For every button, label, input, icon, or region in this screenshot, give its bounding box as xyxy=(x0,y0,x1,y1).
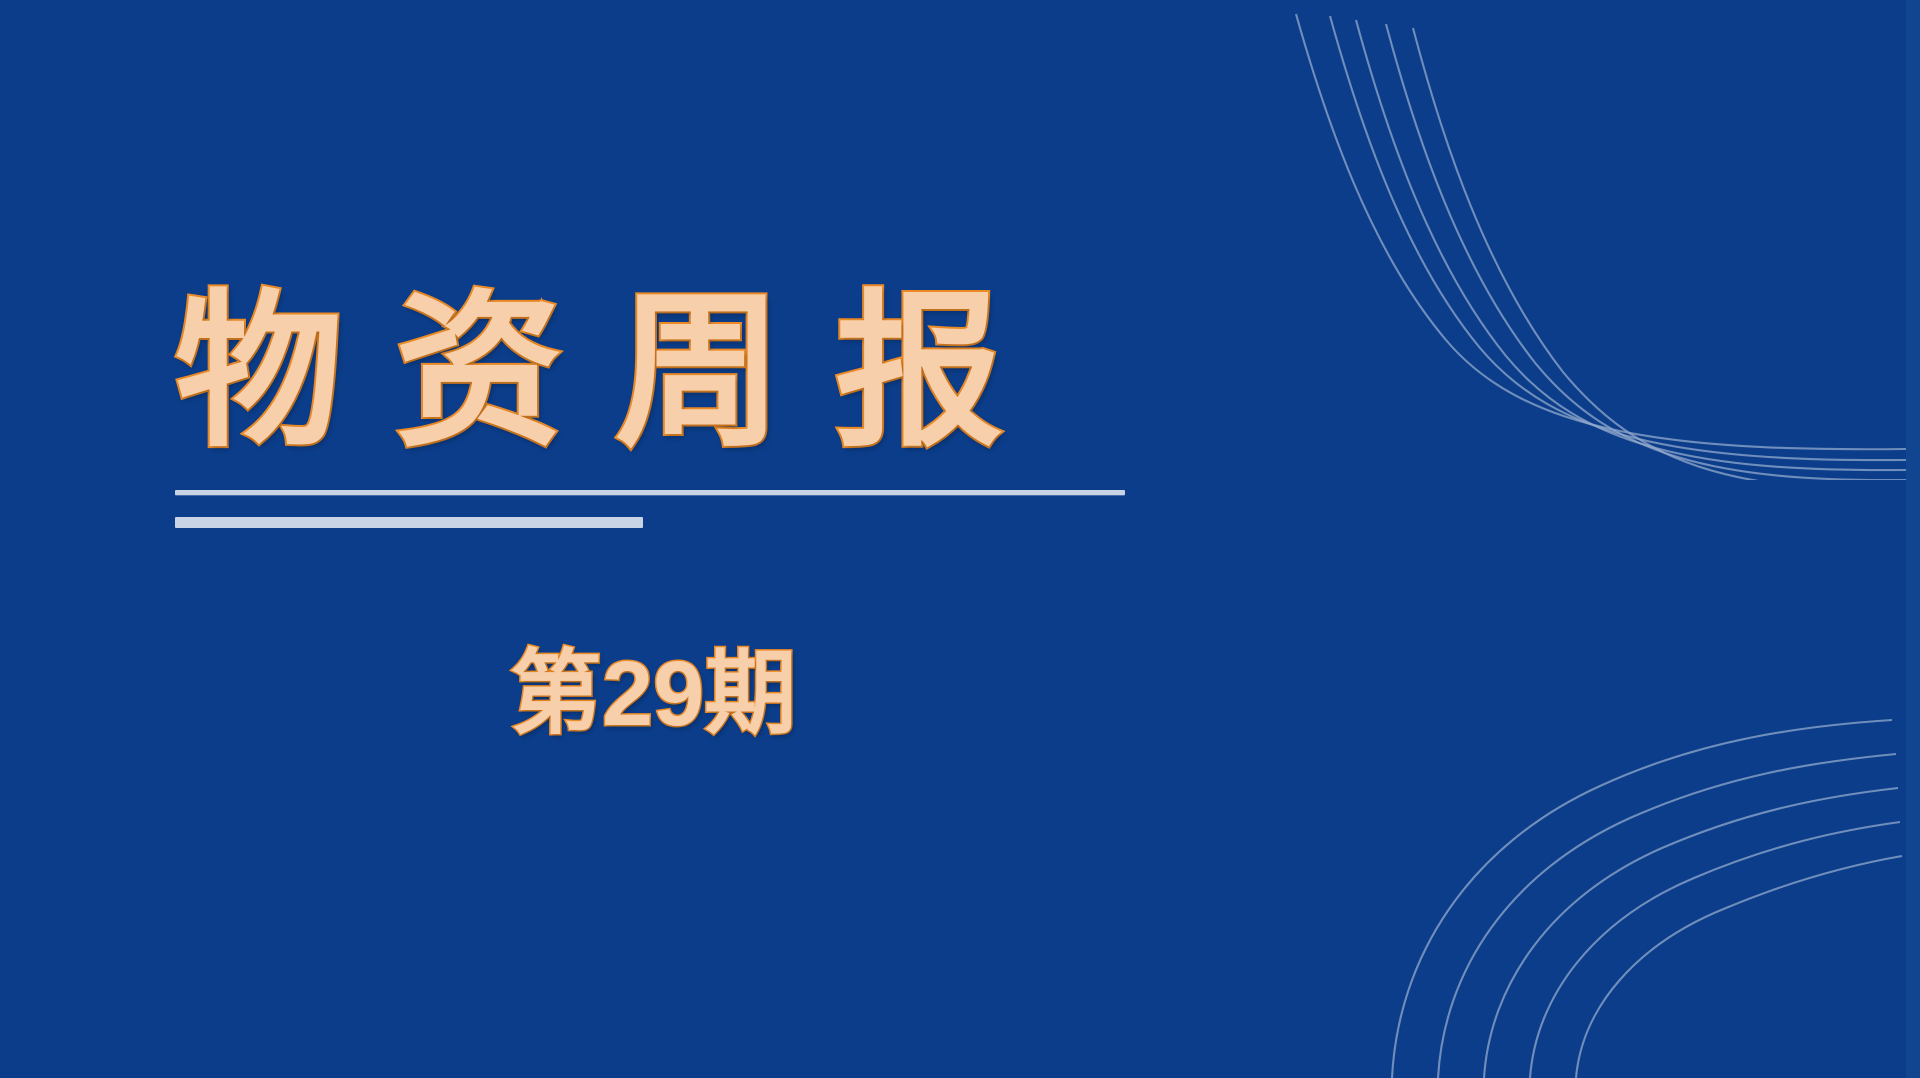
wave-line xyxy=(1296,14,1906,449)
arc-lines-bottom-right-icon xyxy=(1280,658,1920,1078)
slide-right-edge-strip xyxy=(1906,0,1920,1078)
wave-line xyxy=(1413,28,1906,480)
title-underline-long xyxy=(175,490,1125,495)
arc-line xyxy=(1576,856,1902,1078)
wave-line xyxy=(1356,20,1906,470)
title-rules xyxy=(175,490,1175,528)
issue-subtitle: 第29期 xyxy=(510,648,796,740)
wave-lines-top-right-icon xyxy=(1260,0,1920,480)
arc-line xyxy=(1392,720,1892,1078)
arc-line xyxy=(1530,822,1900,1078)
presentation-cover-slide: 物资周报 第29期 xyxy=(0,0,1920,1078)
arc-line xyxy=(1484,788,1898,1078)
page-title: 物资周报 xyxy=(175,288,1175,456)
wave-line xyxy=(1386,24,1906,480)
title-block: 物资周报 xyxy=(175,288,1175,528)
arc-line xyxy=(1438,754,1896,1078)
title-underline-short xyxy=(175,517,643,528)
wave-line xyxy=(1330,16,1906,460)
